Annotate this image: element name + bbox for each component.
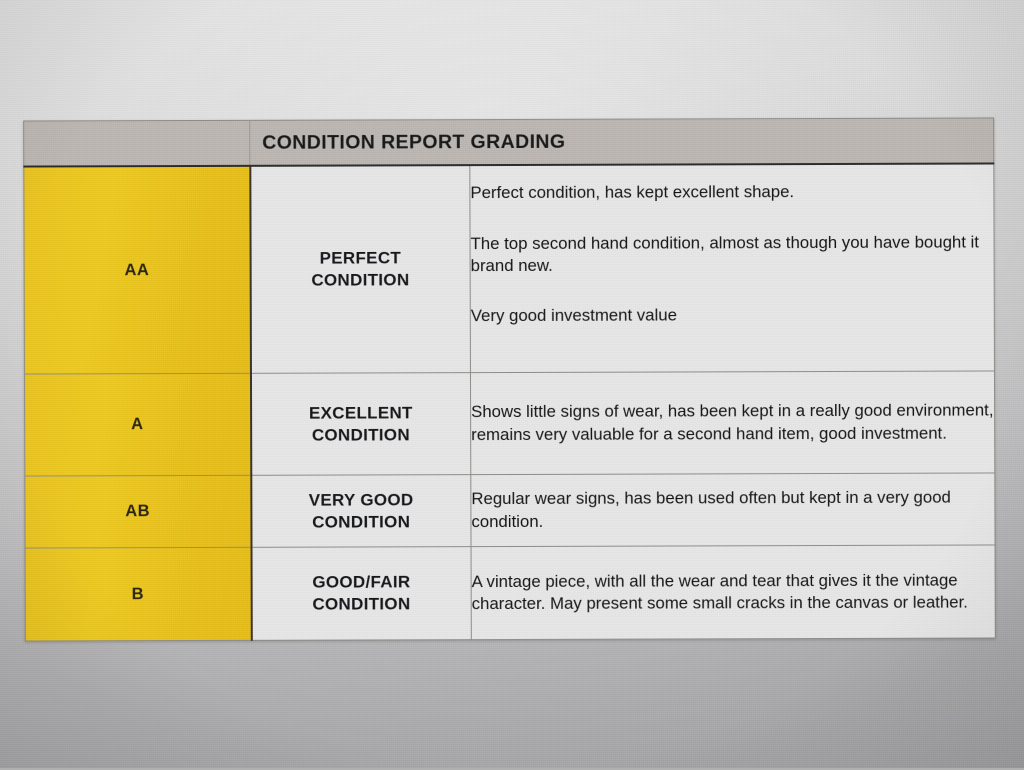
condition-label: EXCELLENT CONDITION [252, 402, 471, 446]
description-text: Regular wear signs, has been used often … [471, 487, 994, 533]
grade-label: A [131, 415, 143, 433]
condition-cell-ab: VERY GOOD CONDITION [251, 475, 471, 548]
description-cell-b: A vintage piece, with all the wear and t… [471, 545, 995, 640]
grade-cell-ab: AB [25, 475, 251, 548]
condition-line-2: CONDITION [311, 270, 409, 289]
description-paragraph: A vintage piece, with all the wear and t… [472, 569, 995, 615]
description-paragraph: Very good investment value [471, 304, 994, 328]
description-text: A vintage piece, with all the wear and t… [472, 569, 995, 615]
photographed-document: CONDITION REPORT GRADING AA PERFECT COND… [0, 0, 1024, 768]
condition-line-2: CONDITION [312, 512, 410, 531]
table-header-row: CONDITION REPORT GRADING [24, 118, 994, 167]
description-paragraph: Shows little signs of wear, has been kep… [471, 400, 994, 446]
description-paragraph: The top second hand condition, almost as… [471, 231, 994, 277]
grade-cell-a: A [24, 373, 250, 476]
condition-grading-table: CONDITION REPORT GRADING AA PERFECT COND… [23, 117, 996, 641]
description-cell-aa: Perfect condition, has kept excellent sh… [470, 163, 995, 372]
condition-label: VERY GOOD CONDITION [252, 489, 471, 533]
condition-label: GOOD/FAIR CONDITION [252, 571, 471, 615]
description-cell-a: Shows little signs of wear, has been kep… [470, 371, 994, 475]
condition-line-1: GOOD/FAIR [312, 573, 410, 592]
table-row: AA PERFECT CONDITION Perfect condition, … [24, 163, 995, 374]
condition-cell-b: GOOD/FAIR CONDITION [251, 547, 471, 641]
description-cell-ab: Regular wear signs, has been used often … [471, 473, 995, 547]
paper-sheet: CONDITION REPORT GRADING AA PERFECT COND… [0, 0, 1024, 770]
condition-line-1: VERY GOOD [309, 490, 414, 509]
description-text: Perfect condition, has kept excellent sh… [470, 181, 993, 328]
condition-line-1: PERFECT [320, 249, 402, 268]
grade-cell-b: B [25, 547, 251, 641]
description-text: Shows little signs of wear, has been kep… [471, 400, 994, 446]
description-paragraph: Regular wear signs, has been used often … [471, 487, 994, 533]
condition-line-1: EXCELLENT [309, 403, 413, 422]
table-row: A EXCELLENT CONDITION Shows little signs… [24, 371, 994, 476]
grade-label: AB [125, 502, 150, 520]
condition-line-2: CONDITION [312, 425, 410, 444]
header-left-blank [24, 120, 250, 166]
grade-label: AA [124, 261, 149, 279]
grade-label: B [132, 585, 144, 603]
grade-cell-aa: AA [24, 166, 251, 374]
table-title-cell: CONDITION REPORT GRADING [250, 118, 994, 166]
description-paragraph: Perfect condition, has kept excellent sh… [470, 181, 993, 205]
condition-cell-a: EXCELLENT CONDITION [250, 373, 470, 476]
condition-cell-aa: PERFECT CONDITION [250, 165, 471, 373]
condition-line-2: CONDITION [312, 594, 410, 613]
page-title: CONDITION REPORT GRADING [250, 129, 993, 154]
table-row: AB VERY GOOD CONDITION Regular wear sign… [25, 473, 995, 548]
table-row: B GOOD/FAIR CONDITION A vintage piece, w… [25, 545, 995, 641]
condition-label: PERFECT CONDITION [251, 247, 470, 291]
